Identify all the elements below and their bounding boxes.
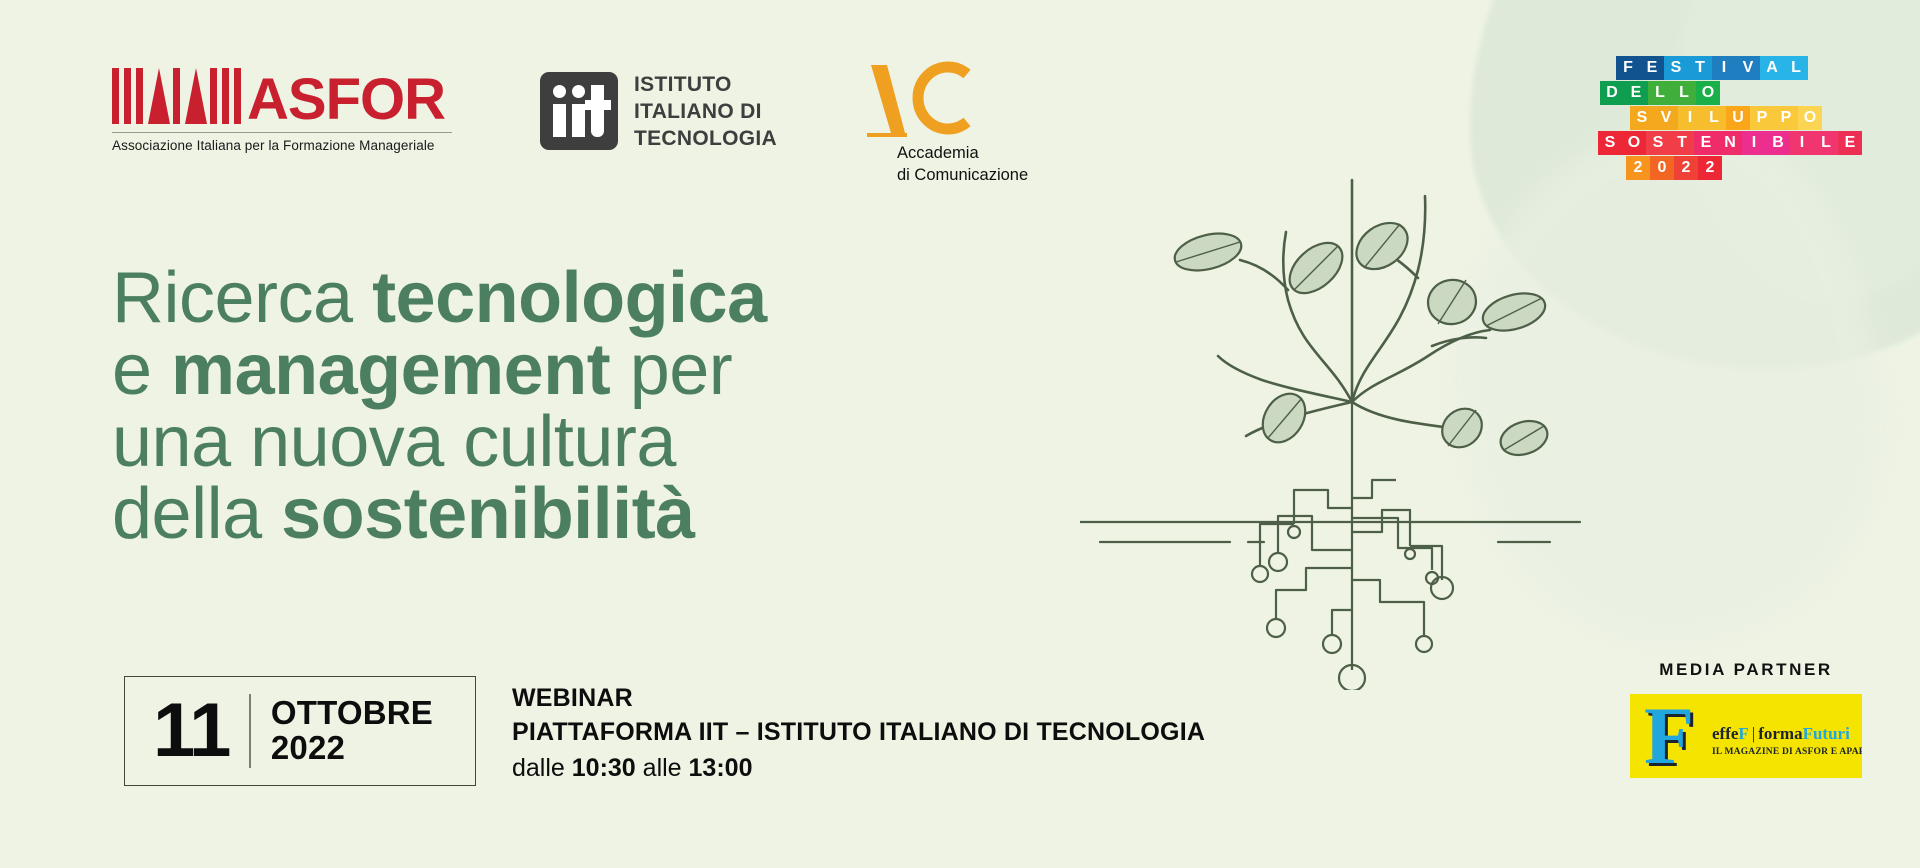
festival-row-festival: FESTIVAL — [1616, 56, 1862, 80]
event-month: OTTOBRE — [271, 696, 433, 731]
festival-letter-tile: F — [1616, 56, 1640, 80]
headline-line-1: Ricerca tecnologica — [112, 262, 767, 334]
asfor-divider — [112, 132, 452, 133]
logo-effef-formafuturi: F effeF|formaFuturi IL MAGAZINE DI ASFOR… — [1630, 694, 1862, 778]
media-partner-block: MEDIA PARTNER F effeF|formaFuturi IL MAG… — [1630, 660, 1862, 778]
effef-subtitle: IL MAGAZINE DI ASFOR E APAFORM — [1712, 747, 1862, 757]
iit-wordmark: ISTITUTO ITALIANO DI TECNOLOGIA — [634, 72, 777, 153]
festival-letter-tile: 2 — [1698, 156, 1722, 180]
headline-line-2: e management per — [112, 334, 767, 406]
plant-illustration — [1080, 150, 1640, 690]
festival-row-sviluppo: SVILUPPO — [1630, 106, 1862, 130]
iit-line-2: ITALIANO DI — [634, 99, 777, 126]
asfor-bars-icon — [112, 68, 246, 124]
headline-word-e: e — [112, 330, 171, 410]
festival-letter-tile: E — [1838, 131, 1862, 155]
headline-word-sostenibilita: sostenibilità — [281, 474, 695, 554]
iit-line-1: ISTITUTO — [634, 72, 777, 99]
time-start: 10:30 — [572, 754, 636, 782]
festival-letter-tile: V — [1654, 106, 1678, 130]
event-year: 2022 — [271, 731, 433, 766]
effef-part-forma: forma — [1758, 724, 1802, 743]
effef-part-futuri: Futuri — [1803, 724, 1850, 743]
effef-wordmark: effeF|formaFuturi IL MAGAZINE DI ASFOR E… — [1712, 724, 1862, 757]
festival-letter-tile: L — [1784, 56, 1808, 80]
poster-canvas: ASFOR Associazione Italiana per la Forma… — [0, 0, 1920, 868]
festival-letter-tile: A — [1760, 56, 1784, 80]
festival-letter-tile: S — [1664, 56, 1688, 80]
accademia-line-1: Accademia — [897, 142, 1028, 164]
festival-letter-tile: P — [1750, 106, 1774, 130]
headline-line-4: della sostenibilità — [112, 478, 767, 550]
festival-letter-tile: U — [1726, 106, 1750, 130]
time-end: 13:00 — [689, 754, 753, 782]
event-details: WEBINAR PIATTAFORMA IIT – ISTITUTO ITALI… — [512, 682, 1205, 787]
event-time: dalle 10:30 alle 13:00 — [512, 751, 1205, 787]
effef-separator: | — [1749, 724, 1758, 743]
festival-letter-tile: L — [1702, 106, 1726, 130]
festival-letter-tile: D — [1600, 81, 1624, 105]
festival-letter-tile: I — [1678, 106, 1702, 130]
logo-accademia-di-comunicazione: Accademia di Comunicazione — [865, 58, 1028, 187]
accademia-line-2: di Comunicazione — [897, 164, 1028, 186]
iit-line-3: TECNOLOGIA — [634, 126, 777, 153]
festival-letter-tile: L — [1814, 131, 1838, 155]
event-date-box: 11 OTTOBRE 2022 — [124, 676, 476, 786]
headline-word-per: per — [610, 330, 732, 410]
festival-row-dello: DELLO — [1600, 81, 1862, 105]
festival-letter-tile: 0 — [1650, 156, 1674, 180]
festival-letter-tile: I — [1712, 56, 1736, 80]
festival-letter-tile: E — [1624, 81, 1648, 105]
festival-letter-tile: 2 — [1674, 156, 1698, 180]
festival-letter-tile: I — [1790, 131, 1814, 155]
accademia-wordmark: Accademia di Comunicazione — [897, 142, 1028, 187]
event-platform: PIATTAFORMA IIT – ISTITUTO ITALIANO DI T… — [512, 716, 1205, 750]
festival-letter-tile: O — [1798, 106, 1822, 130]
festival-letter-tile: O — [1696, 81, 1720, 105]
effef-part-effe: effe — [1712, 724, 1738, 743]
ac-monogram-icon — [865, 58, 975, 138]
media-partner-label: MEDIA PARTNER — [1630, 660, 1862, 680]
time-prefix: dalle — [512, 754, 572, 782]
festival-letter-tile: P — [1774, 106, 1798, 130]
festival-letter-tile: S — [1630, 106, 1654, 130]
festival-letter-tile: B — [1766, 131, 1790, 155]
festival-letter-tile: S — [1646, 131, 1670, 155]
logo-festival-sviluppo-sostenibile: FESTIVAL DELLO SVILUPPO SOSTENIBILE 2022 — [1616, 56, 1862, 181]
festival-letter-tile: L — [1672, 81, 1696, 105]
logo-iit: ISTITUTO ITALIANO DI TECNOLOGIA — [540, 72, 777, 153]
headline-word-della: della — [112, 474, 281, 554]
event-month-year: OTTOBRE 2022 — [251, 696, 433, 766]
festival-letter-tile: L — [1648, 81, 1672, 105]
festival-letter-tile: T — [1688, 56, 1712, 80]
asfor-lockup: ASFOR — [112, 62, 452, 124]
event-day: 11 — [125, 693, 249, 769]
logo-asfor: ASFOR Associazione Italiana per la Forma… — [112, 62, 452, 153]
festival-row-year: 2022 — [1626, 156, 1862, 180]
headline-phrase-una-nuova-cultura: una nuova cultura — [112, 402, 676, 482]
asfor-wordmark: ASFOR — [247, 75, 445, 124]
festival-letter-tile: V — [1736, 56, 1760, 80]
festival-letter-tile: I — [1742, 131, 1766, 155]
festival-letter-tile: E — [1694, 131, 1718, 155]
effef-f-icon: F — [1644, 702, 1694, 769]
festival-letter-tile: N — [1718, 131, 1742, 155]
festival-letter-tile: E — [1640, 56, 1664, 80]
asfor-tagline: Associazione Italiana per la Formazione … — [112, 138, 452, 153]
headline-word-management: management — [171, 330, 610, 410]
effef-part-f: F — [1738, 724, 1748, 743]
page-title: Ricerca tecnologica e management per una… — [112, 262, 767, 550]
effef-name: effeF|formaFuturi — [1712, 724, 1862, 744]
ac-letter-c-icon — [901, 58, 977, 138]
time-middle: alle — [636, 754, 689, 782]
event-format: WEBINAR — [512, 682, 1205, 716]
iit-mark-icon — [540, 72, 618, 150]
headline-word-ricerca: Ricerca — [112, 258, 372, 338]
headline-word-tecnologica: tecnologica — [372, 258, 767, 338]
festival-letter-tile: T — [1670, 131, 1694, 155]
headline-line-3: una nuova cultura — [112, 406, 767, 478]
